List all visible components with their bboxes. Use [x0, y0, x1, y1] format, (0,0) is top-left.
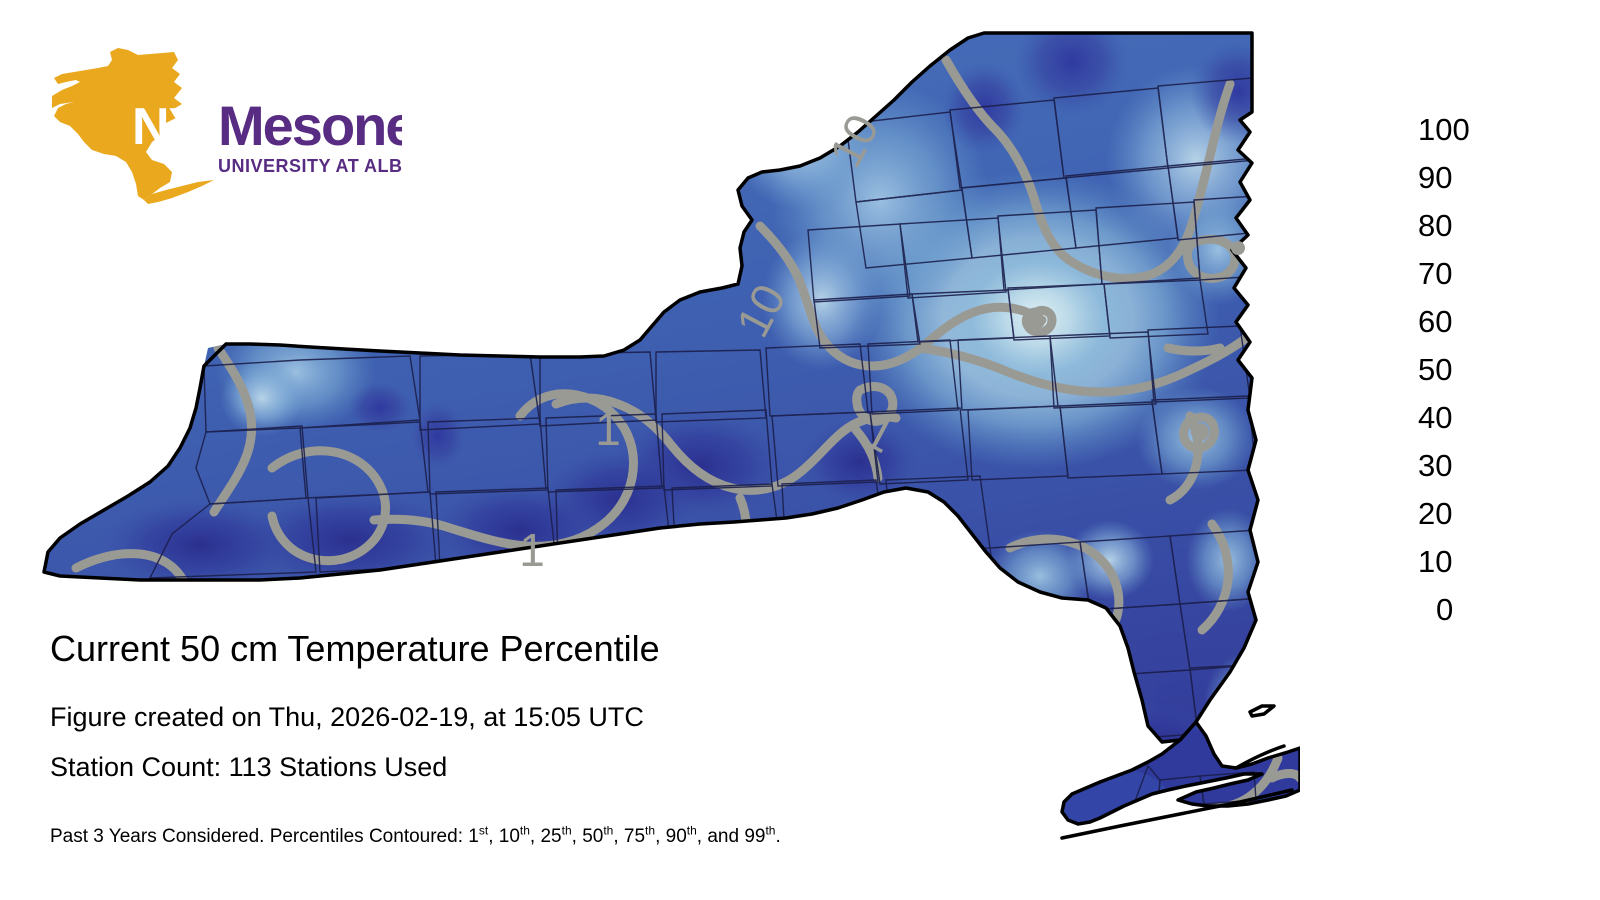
colorbar-tick-0: 0	[1436, 594, 1556, 625]
colorbar-tick-80: 80	[1418, 210, 1538, 241]
contour-footnote: Past 3 Years Considered. Percentiles Con…	[50, 826, 781, 848]
colorbar-tick-30: 30	[1418, 450, 1538, 481]
colorbar-tick-10: 10	[1418, 546, 1538, 577]
colorbar-tick-100: 100	[1418, 114, 1538, 145]
colorbar-tick-50: 50	[1418, 354, 1538, 385]
figure-canvas: 10 10 1 1 1 NYS Mesonet UNIVERSITY AT AL…	[0, 0, 1600, 900]
colorbar-tick-60: 60	[1418, 306, 1538, 337]
colorbar-tick-90: 90	[1418, 162, 1538, 193]
logo-mesonet-text: Mesonet	[218, 94, 402, 157]
figure-title: Current 50 cm Temperature Percentile	[50, 628, 660, 670]
colorbar-gradient	[1332, 129, 1404, 607]
logo-subtitle-text: UNIVERSITY AT ALBANY	[218, 156, 402, 176]
colorbar-tick-70: 70	[1418, 258, 1538, 289]
nys-mesonet-logo: NYS Mesonet UNIVERSITY AT ALBANY	[52, 48, 402, 208]
station-count-line: Station Count: 113 Stations Used	[50, 752, 447, 783]
percentile-colorbar: 100 90 80 70 60 50 40 30 20 10 0	[1332, 122, 1572, 622]
contour-label-1-southwest: 1	[519, 524, 545, 576]
figure-created-line: Figure created on Thu, 2026-02-19, at 15…	[50, 702, 644, 733]
colorbar-tick-20: 20	[1418, 498, 1538, 529]
colorbar-tick-40: 40	[1418, 402, 1538, 433]
contour-label-1-central: 1	[595, 403, 621, 455]
